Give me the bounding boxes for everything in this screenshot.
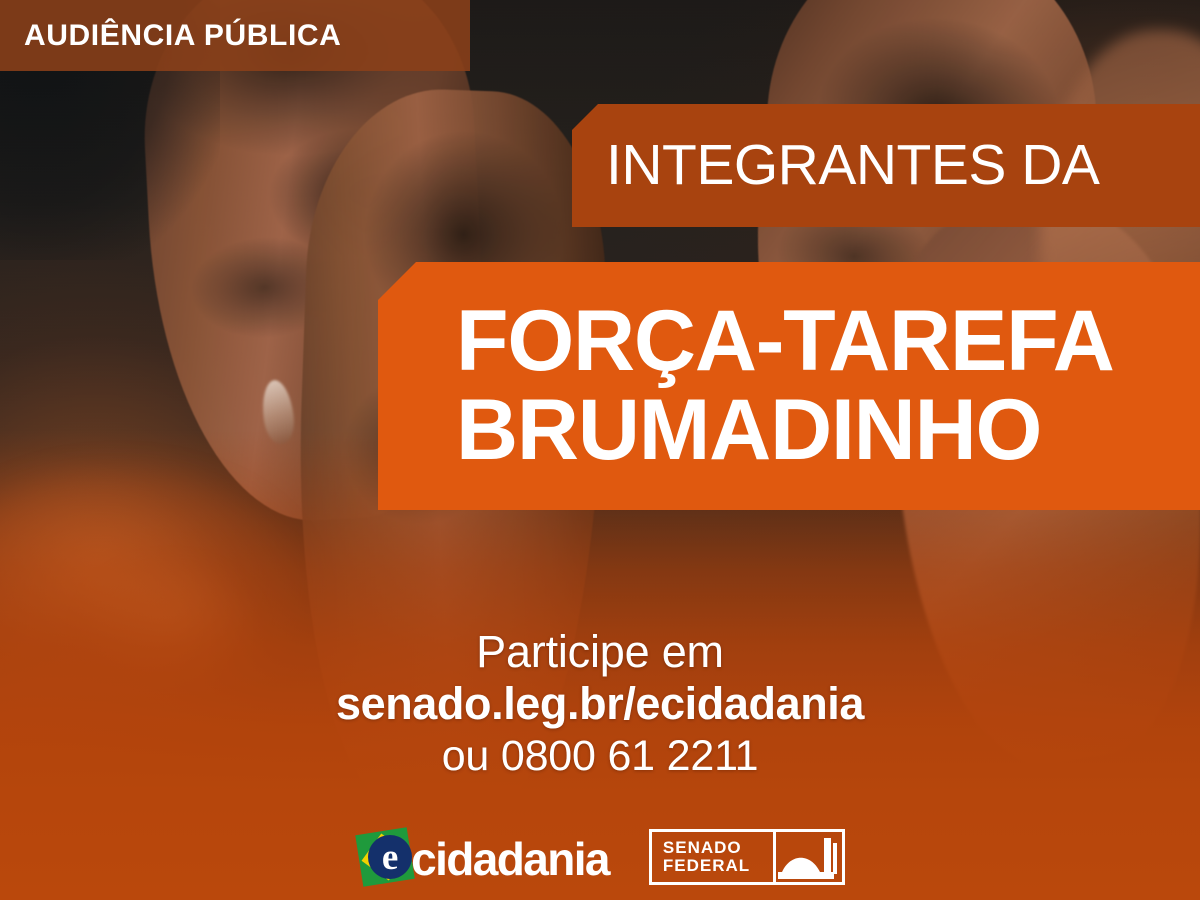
title-banner: FORÇA-TAREFA BRUMADINHO [378,262,1200,510]
audiencia-publica-label: AUDIÊNCIA PÚBLICA [0,21,341,51]
senado-federal-logo[interactable]: SENADO FEDERAL [649,829,845,885]
logo-row: e cidadania SENADO FEDERAL [0,826,1200,888]
congress-building-icon [776,832,842,882]
cta-phone-text: ou 0800 61 2211 [0,731,1200,782]
subtitle-text: INTEGRANTES DA [572,137,1099,194]
ecidadania-wordmark: cidadania [411,836,609,882]
senado-federal-text: SENADO FEDERAL [652,832,776,882]
call-to-action-block: Participe em senado.leg.br/ecidadania ou… [0,628,1200,782]
senado-line-2: FEDERAL [663,857,773,875]
audiencia-publica-tab: AUDIÊNCIA PÚBLICA [0,0,470,71]
subtitle-banner: INTEGRANTES DA [572,104,1200,227]
brazil-flag-icon: e [355,826,417,888]
senado-line-1: SENADO [663,839,773,857]
cta-intro-text: Participe em [0,628,1200,677]
ecidadania-e-letter: e [368,835,412,879]
cta-website-link[interactable]: senado.leg.br/ecidadania [0,677,1200,732]
ecidadania-logo[interactable]: e cidadania [355,826,609,888]
title-line-1: FORÇA-TAREFA [456,297,1200,386]
poster-canvas: AUDIÊNCIA PÚBLICA INTEGRANTES DA FORÇA-T… [0,0,1200,900]
title-line-2: BRUMADINHO [456,386,1200,475]
